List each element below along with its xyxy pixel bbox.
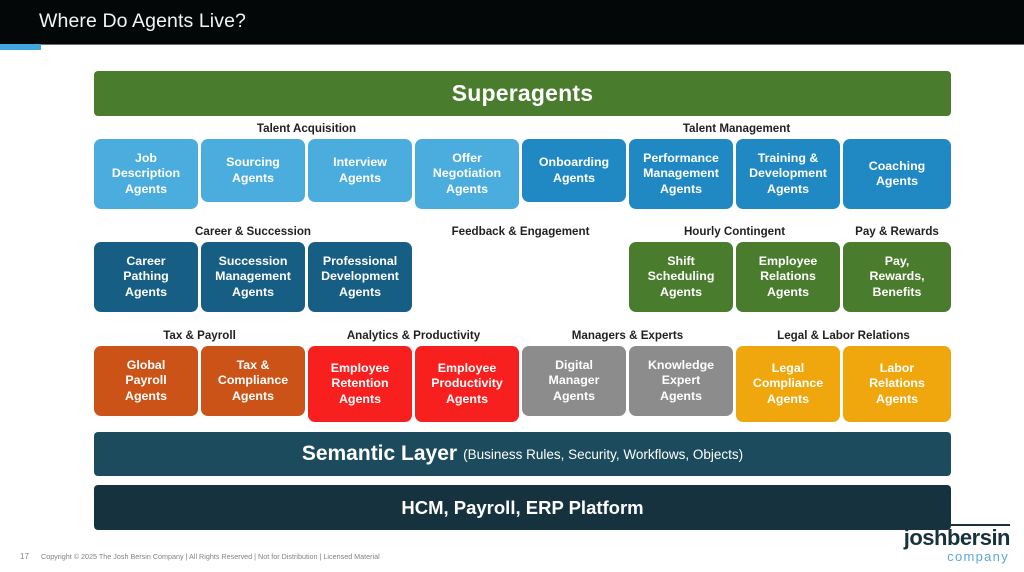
- agent-card[interactable]: Employee Retention Agents: [308, 346, 412, 422]
- agent-row-2: Career & SuccessionFeedback & Engagement…: [94, 225, 951, 328]
- group-label: Analytics & Productivity: [347, 329, 480, 342]
- agent-card[interactable]: Employee Feedback Agents: [415, 242, 519, 312]
- agent-card-label: Professional Development Agents: [321, 254, 399, 300]
- agent-card-label: Employee Relations Agents: [759, 254, 818, 300]
- superagents-banner: Superagents: [94, 71, 951, 116]
- agent-card-label: Job Description Agents: [112, 151, 180, 197]
- agent-card-label: Succession Management Agents: [215, 254, 291, 300]
- agent-card[interactable]: Training & Development Agents: [736, 139, 840, 209]
- agent-card-label: Knowledge Expert Agents: [648, 358, 714, 404]
- group-label: Talent Management: [683, 122, 790, 135]
- group-label: Legal & Labor Relations: [777, 329, 910, 342]
- agent-card[interactable]: Onboarding Agents: [522, 139, 626, 202]
- agent-card-label: Tax & Compliance Agents: [218, 358, 288, 404]
- agent-card-label: Legal Compliance Agents: [753, 361, 823, 407]
- group-label: Career & Succession: [195, 225, 311, 238]
- slide-body: Superagents Talent AcquisitionTalent Man…: [0, 50, 1024, 572]
- card-container-2: Career Pathing AgentsSuccession Manageme…: [94, 242, 951, 328]
- agent-card[interactable]: Offer Negotiation Agents: [415, 139, 519, 209]
- agent-card[interactable]: Knowledge Expert Agents: [629, 346, 733, 416]
- agent-card-label: Sourcing Agents: [226, 155, 280, 186]
- agent-card-label: Performance Management Agents: [643, 151, 719, 197]
- agent-card[interactable]: Global Payroll Agents: [94, 346, 198, 416]
- platform-label: HCM, Payroll, ERP Platform: [401, 497, 643, 519]
- agent-card[interactable]: Sourcing Agents: [201, 139, 305, 202]
- slide-number: 17: [20, 552, 29, 561]
- agent-card[interactable]: Employee Engagement Agents: [522, 242, 626, 312]
- header-divider: [41, 44, 1024, 45]
- group-label: Talent Acquisition: [257, 122, 356, 135]
- agent-card-label: Pay, Rewards, Benefits: [869, 254, 924, 300]
- agent-card[interactable]: Professional Development Agents: [308, 242, 412, 312]
- agent-card-label: Digital Manager Agents: [549, 358, 600, 404]
- agent-card[interactable]: Career Pathing Agents: [94, 242, 198, 312]
- agent-card[interactable]: Coaching Agents: [843, 139, 951, 209]
- agent-card[interactable]: Job Description Agents: [94, 139, 198, 209]
- agent-card[interactable]: Shift Scheduling Agents: [629, 242, 733, 312]
- agent-card-label: Training & Development Agents: [749, 151, 827, 197]
- group-label: Tax & Payroll: [163, 329, 236, 342]
- agent-card[interactable]: Succession Management Agents: [201, 242, 305, 312]
- platform-bar: HCM, Payroll, ERP Platform: [94, 485, 951, 530]
- agent-card-label: Employee Feedback Agents: [438, 254, 497, 300]
- agent-row-1: Talent AcquisitionTalent Management Job …: [94, 122, 951, 225]
- group-label: Hourly Contingent: [684, 225, 785, 238]
- superagents-label: Superagents: [452, 80, 594, 107]
- group-label-container-3: Tax & PayrollAnalytics & ProductivityMan…: [94, 329, 951, 346]
- agent-row-3: Tax & PayrollAnalytics & ProductivityMan…: [94, 329, 951, 432]
- semantic-layer-subtitle: (Business Rules, Security, Workflows, Ob…: [463, 447, 743, 462]
- agent-card-label: Career Pathing Agents: [123, 254, 168, 300]
- agent-card-label: Global Payroll Agents: [125, 358, 167, 404]
- group-label: Pay & Rewards: [855, 225, 939, 238]
- agent-card-label: Shift Scheduling Agents: [648, 254, 715, 300]
- agent-card[interactable]: Interview Agents: [308, 139, 412, 202]
- logo-subtitle: company: [947, 550, 1009, 564]
- card-container-3: Global Payroll AgentsTax & Compliance Ag…: [94, 346, 951, 432]
- agent-card-label: Employee Retention Agents: [331, 361, 390, 407]
- agent-card[interactable]: Tax & Compliance Agents: [201, 346, 305, 416]
- agent-card[interactable]: Legal Compliance Agents: [736, 346, 840, 422]
- agent-card[interactable]: Labor Relations Agents: [843, 346, 951, 422]
- agent-card-label: Coaching Agents: [869, 159, 925, 190]
- agent-card[interactable]: Employee Productivity Agents: [415, 346, 519, 422]
- logo: joshbersin company: [880, 524, 1010, 566]
- semantic-layer-bar: Semantic Layer (Business Rules, Security…: [94, 432, 951, 476]
- group-label-container-1: Talent AcquisitionTalent Management: [94, 122, 951, 139]
- agent-card[interactable]: Pay, Rewards, Benefits: [843, 242, 951, 312]
- copyright-notice: Copyright © 2025 The Josh Bersin Company…: [41, 552, 380, 561]
- group-label: Feedback & Engagement: [452, 225, 590, 238]
- semantic-layer-title: Semantic Layer: [302, 442, 457, 466]
- agent-card-label: Labor Relations Agents: [869, 361, 925, 407]
- logo-name: joshbersin: [904, 527, 1010, 549]
- agent-card-label: Interview Agents: [333, 155, 387, 186]
- agent-card-label: Offer Negotiation Agents: [433, 151, 501, 197]
- group-label: Managers & Experts: [572, 329, 683, 342]
- agent-card-label: Onboarding Agents: [539, 155, 609, 186]
- agent-card[interactable]: Performance Management Agents: [629, 139, 733, 209]
- agent-card[interactable]: Employee Relations Agents: [736, 242, 840, 312]
- page-title: Where Do Agents Live?: [39, 10, 246, 33]
- card-container-1: Job Description AgentsSourcing AgentsInt…: [94, 139, 951, 225]
- agent-card[interactable]: Digital Manager Agents: [522, 346, 626, 416]
- agent-card-label: Employee Productivity Agents: [431, 361, 503, 407]
- group-label-container-2: Career & SuccessionFeedback & Engagement…: [94, 225, 951, 242]
- agent-card-label: Employee Engagement Agents: [537, 254, 611, 300]
